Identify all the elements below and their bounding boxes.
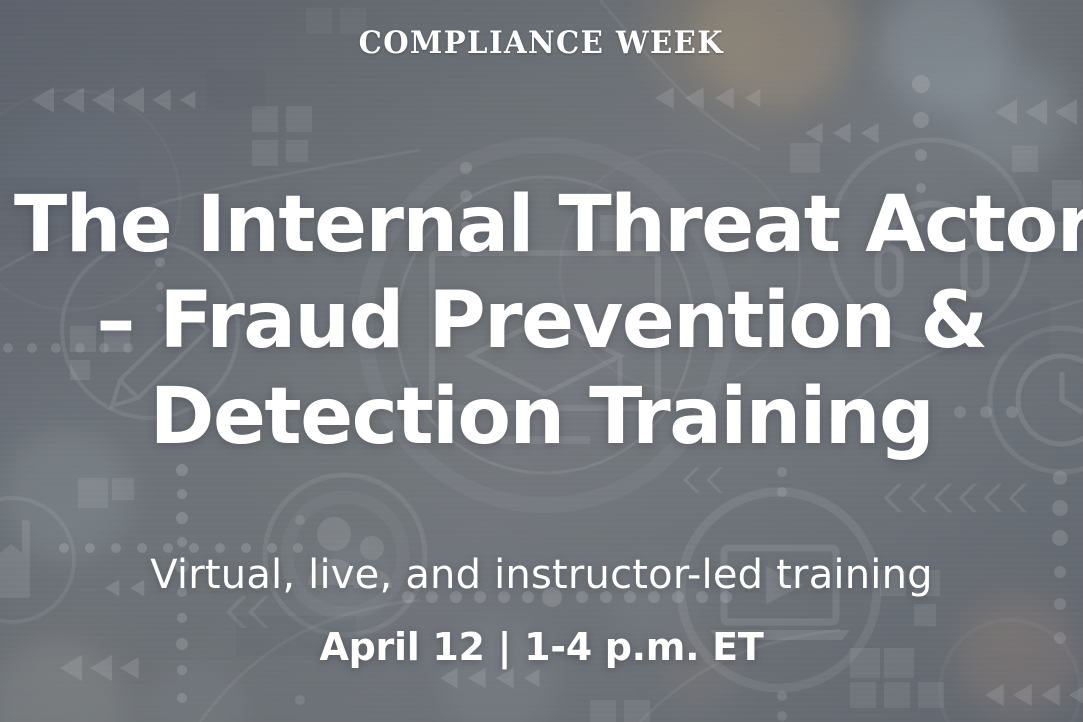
event-datetime: April 12 | 1-4 p.m. ET [320, 627, 764, 669]
headline-line-3: Detection Training [14, 369, 1069, 465]
page-title: The Internal Threat Actor – Fraud Preven… [0, 59, 1083, 465]
event-format-subtitle: Virtual, live, and instructor-led traini… [150, 553, 932, 597]
headline-line-1: The Internal Threat Actor [14, 177, 1069, 273]
compliance-week-logo: COMPLIANCE WEEK [359, 28, 724, 59]
headline-line-2: – Fraud Prevention & [14, 273, 1069, 369]
banner-content: COMPLIANCE WEEK The Internal Threat Acto… [0, 0, 1083, 722]
promo-banner: COMPLIANCE WEEK The Internal Threat Acto… [0, 0, 1083, 722]
